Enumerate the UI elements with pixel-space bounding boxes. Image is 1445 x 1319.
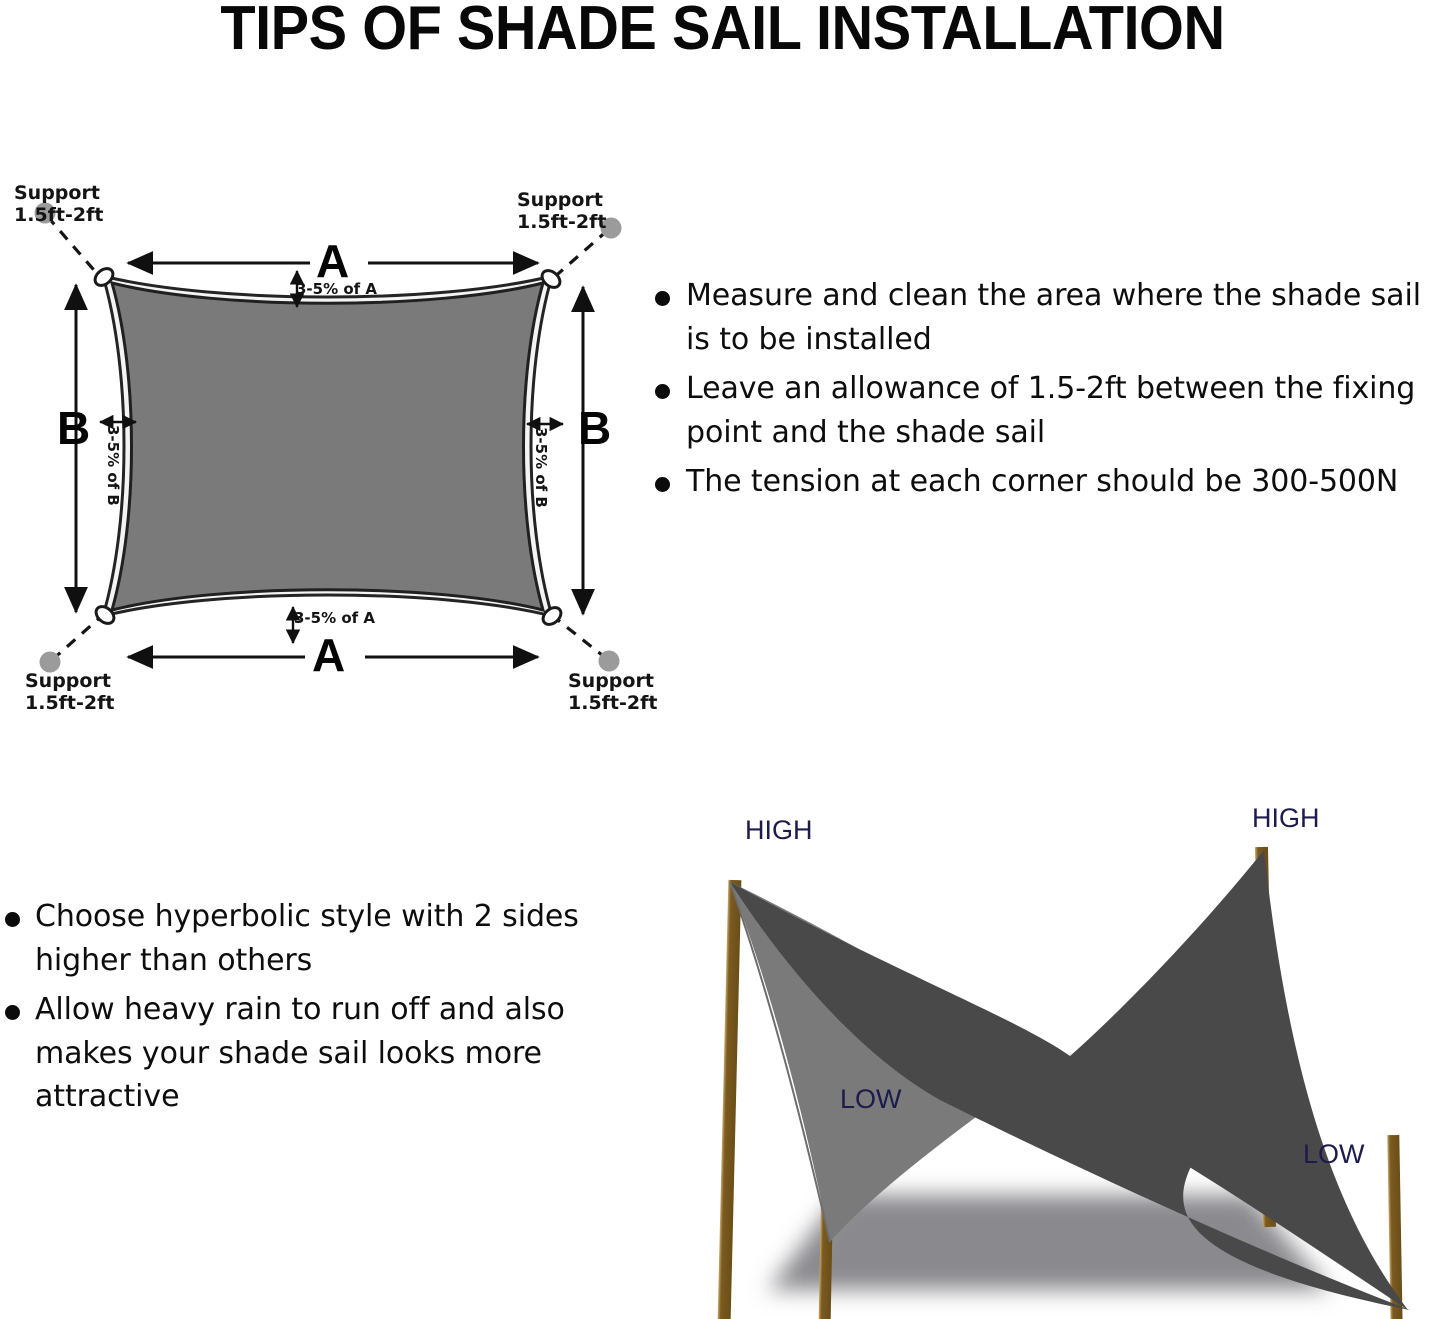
dimension-letter-top-A: A [316, 238, 349, 284]
list-item-text: Measure and clean the area where the sha… [686, 274, 1445, 361]
rect-sail-diagram-graphics [0, 0, 700, 760]
list-item-text: Allow heavy rain to run off and also mak… [35, 988, 625, 1119]
list-item: Measure and clean the area where the sha… [655, 274, 1445, 361]
list-item: The tension at each corner should be 300… [655, 460, 1445, 504]
list-item-text: Leave an allowance of 1.5-2ft between th… [686, 367, 1445, 454]
infographic-canvas: TIPS OF SHADE SAIL INSTALLATION [0, 0, 1445, 1319]
dimension-letter-left-B: B [57, 405, 90, 451]
support-label-line2: 1.5ft-2ft [14, 204, 103, 226]
support-label-line1: Support [25, 670, 111, 692]
sag-note-top: 3-5% of A [296, 282, 377, 297]
support-label-line1: Support [517, 189, 603, 211]
label-low-left: LOW [840, 1086, 902, 1113]
label-low-right: LOW [1303, 1141, 1365, 1168]
support-label-top-left: Support 1.5ft-2ft [14, 182, 103, 227]
bullet-dot-icon [5, 1005, 20, 1020]
label-high-right: HIGH [1252, 805, 1320, 832]
pole-high-left [718, 880, 742, 1319]
list-item: Allow heavy rain to run off and also mak… [5, 988, 625, 1119]
sag-note-right: 3-5% of B [533, 427, 548, 508]
sag-note-left: 3-5% of B [105, 425, 120, 506]
support-label-line2: 1.5ft-2ft [25, 692, 114, 714]
label-high-left: HIGH [745, 817, 813, 844]
support-label-line1: Support [568, 670, 654, 692]
bullet-dot-icon [655, 384, 670, 399]
dimension-letter-bottom-A: A [312, 632, 345, 678]
list-item: Leave an allowance of 1.5-2ft between th… [655, 367, 1445, 454]
bullet-dot-icon [655, 291, 670, 306]
sag-note-bottom: 3-5% of A [294, 611, 375, 626]
hyperbolic-sail-graphics [640, 790, 1445, 1319]
support-label-bottom-left: Support 1.5ft-2ft [25, 670, 114, 715]
support-label-line1: Support [14, 182, 100, 204]
list-item: Choose hyperbolic style with 2 sides hig… [5, 895, 625, 982]
list-item-text: Choose hyperbolic style with 2 sides hig… [35, 895, 625, 982]
bullet-dot-icon [5, 912, 20, 927]
support-label-top-right: Support 1.5ft-2ft [517, 189, 606, 234]
bullet-dot-icon [655, 477, 670, 492]
dimension-letter-right-B: B [578, 405, 611, 451]
sail-body [112, 283, 543, 610]
list-item-text: The tension at each corner should be 300… [686, 460, 1445, 504]
hyperbolic-style-tips-list: Choose hyperbolic style with 2 sides hig… [5, 895, 625, 1125]
installation-tips-list: Measure and clean the area where the sha… [655, 274, 1445, 510]
support-label-bottom-right: Support 1.5ft-2ft [568, 670, 657, 715]
support-label-line2: 1.5ft-2ft [568, 692, 657, 714]
support-label-line2: 1.5ft-2ft [517, 211, 606, 233]
